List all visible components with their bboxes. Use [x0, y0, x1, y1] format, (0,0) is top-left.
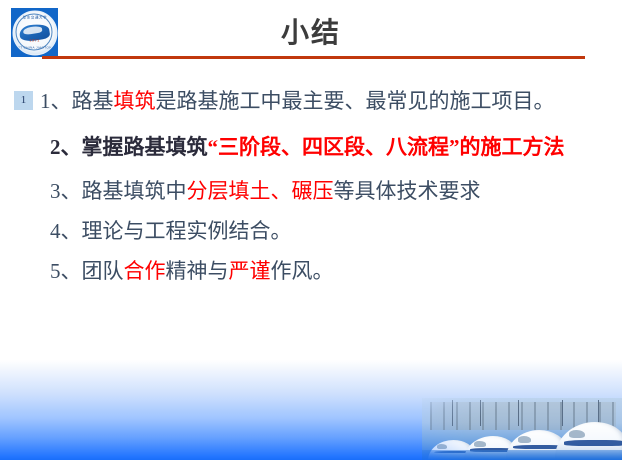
text-run: 精神与 — [166, 259, 229, 283]
text-run: 2、掌握路基填筑 — [50, 135, 208, 159]
text-run: “三阶段、四区段、八流程”的施工方法 — [208, 135, 565, 159]
text-run: 5、团队 — [50, 259, 124, 283]
text-run: 严谨 — [229, 259, 271, 283]
photo-catenary-pole — [480, 400, 481, 426]
text-run: 3、路基填筑中 — [50, 179, 187, 203]
text-run: 1、路基 — [40, 89, 114, 113]
status-badge: 1 — [14, 91, 33, 110]
list-item: 5、团队合作精神与严谨作风。 — [40, 254, 604, 289]
text-run: 分层填土、碾压 — [187, 179, 334, 203]
list-item: 3、路基填筑中分层填土、碾压等具体技术要求 — [40, 174, 604, 209]
summary-list: 1、路基填筑是路基施工中最主要、最常见的施工项目。 2、掌握路基填筑“三阶段、四… — [40, 84, 604, 295]
text-run: 填筑 — [114, 89, 156, 113]
photo-catenary-pole — [518, 400, 519, 426]
page-title: 小结 — [0, 16, 622, 50]
text-run: 合作 — [124, 259, 166, 283]
photo-catenary-pole — [562, 400, 563, 426]
photo-ground — [422, 450, 622, 460]
text-run: 4、理论与工程实例结合。 — [50, 219, 292, 243]
photo-catenary-pole — [452, 400, 453, 426]
list-item: 2、掌握路基填筑“三阶段、四区段、八流程”的施工方法 — [40, 130, 604, 165]
title-underline-rule — [42, 56, 585, 59]
text-run: 等具体技术要求 — [334, 179, 481, 203]
text-run: 作风。 — [271, 259, 334, 283]
text-run: 是路基施工中最主要、最常见的施工项目。 — [156, 89, 555, 113]
list-item: 1、路基填筑是路基施工中最主要、最常见的施工项目。 — [40, 84, 604, 119]
list-item: 4、理论与工程实例结合。 — [40, 214, 604, 249]
high-speed-trains-photo — [422, 398, 622, 460]
footer-gradient-band — [0, 360, 622, 460]
slide-canvas: 华东交通大学 1971 EAST CHINA JIAOTONG UNIVERSI… — [0, 0, 622, 460]
